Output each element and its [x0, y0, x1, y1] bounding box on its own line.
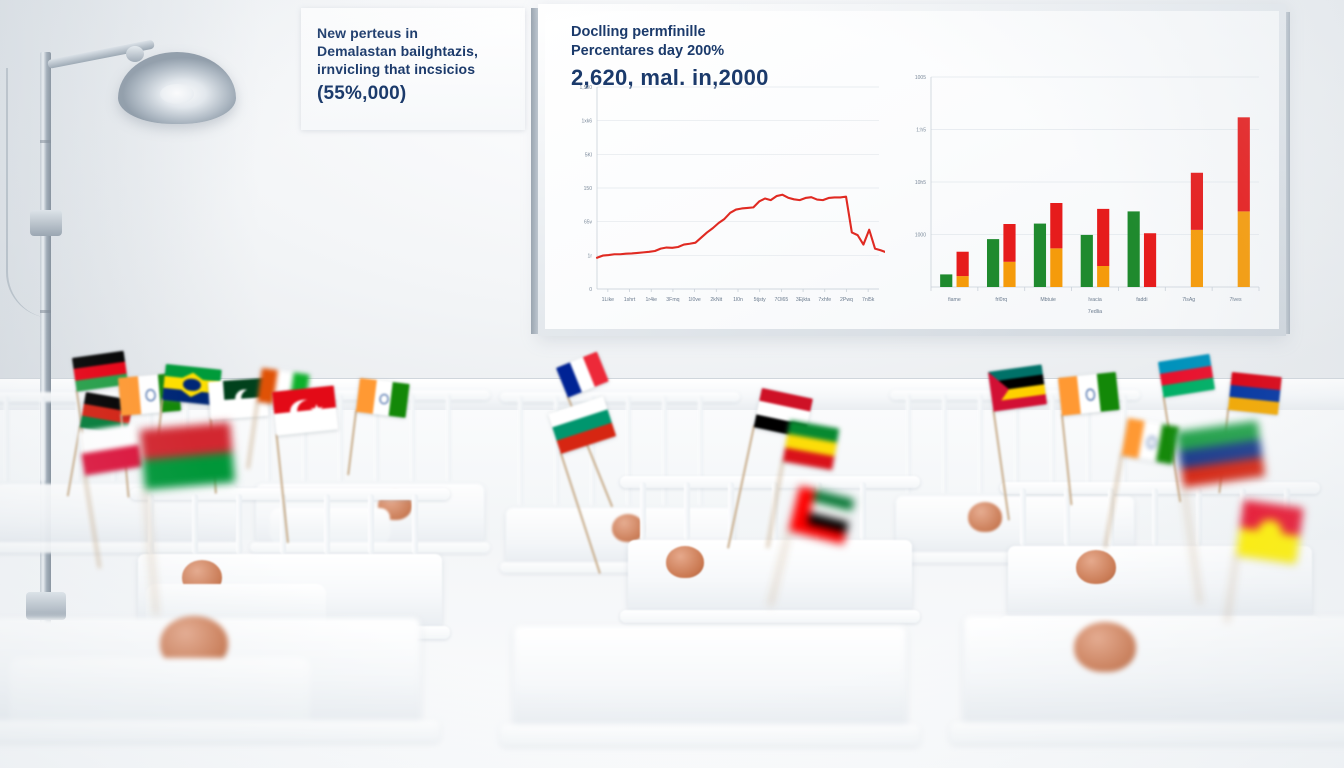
bar-segment-orange: [1191, 230, 1203, 287]
line-chart-xtick: 5tjsty: [754, 297, 767, 303]
crib-near-center: [500, 612, 920, 768]
left-info-panel: New perteus in Demalastan bailghtazis, i…: [301, 8, 525, 130]
lamp-bulb: [160, 84, 194, 104]
bar-segment-red: [1238, 117, 1250, 211]
bar-segment-green: [940, 274, 952, 287]
bar-chart-xtick: Mbtuie: [1040, 297, 1056, 303]
bar-segment-green: [1034, 224, 1046, 287]
bar-segment-green: [1081, 235, 1093, 287]
flag-cloth: [783, 420, 840, 470]
bar-chart-canvas: 100010h51:h51005fiamefrl0rqMbtuieIvaciaf…: [893, 69, 1265, 331]
flag-cloth: [78, 423, 142, 476]
flag-cloth: [1058, 372, 1120, 416]
bar-segment-green: [1128, 211, 1140, 287]
board-title-line-2: Percentares day 200%: [571, 42, 769, 61]
left-panel-text: New perteus in Demalastan bailghtazis, i…: [317, 24, 513, 106]
bar-segment-red: [1003, 224, 1015, 262]
line-chart-xtick: 7nl5k: [862, 297, 875, 303]
line-chart-xtick: 3Ejkta: [796, 297, 811, 303]
line-chart-ytick: 1r: [588, 253, 593, 259]
line-chart-xtick: 1Like: [602, 297, 615, 303]
bar-chart-ytick: 1005: [915, 75, 926, 81]
line-chart-ytick: 150: [584, 186, 593, 192]
line-chart-xtick: 2Pwq: [840, 297, 853, 303]
line-chart: 01r65v1505Kl1xk61,5001Like1shrt1r4ie3Fmq…: [563, 77, 885, 329]
bar-chart-axis-title: 7edlia: [1088, 309, 1102, 315]
lamp-clamp: [30, 210, 62, 236]
bar-segment-orange: [957, 276, 969, 287]
line-chart-xtick: 2kNit: [710, 297, 722, 303]
bar-chart-xtick: 7lves: [1230, 297, 1243, 303]
left-panel-highlight: (55%,000): [317, 82, 513, 107]
baby-head: [968, 502, 1002, 532]
flag-cloth: [356, 378, 410, 418]
line-chart-xtick: 7Ol65: [774, 297, 788, 303]
line-chart-xtick: 3Fmq: [666, 297, 679, 303]
bar-chart-xtick: fiame: [948, 297, 961, 303]
line-chart-xtick: 1l0ve: [688, 297, 701, 303]
nursery-scene: New perteus in Demalastan bailghtazis, i…: [0, 0, 1344, 768]
flag-cloth: [988, 364, 1047, 411]
line-chart-xtick: 1r4ie: [645, 297, 657, 303]
bar-chart-xtick: faddi: [1136, 297, 1147, 303]
line-chart-ytick: 0: [589, 287, 592, 293]
line-chart-ytick: 65v: [584, 220, 593, 226]
flag-cloth: [1176, 421, 1265, 488]
bar-segment-orange: [1050, 248, 1062, 287]
crib-near-left: [0, 600, 440, 768]
whiteboard: Doclling permfinille Percentares day 200…: [538, 4, 1286, 336]
bar-segment-red: [957, 252, 969, 276]
left-panel-line-3: irnvicling that incsicios: [317, 60, 513, 78]
flag-cloth: [272, 386, 338, 436]
bar-segment-red: [1144, 233, 1156, 287]
bar-chart-xtick: 7lsAg: [1182, 297, 1195, 303]
line-chart-ytick: 5Kl: [585, 152, 592, 158]
board-title-line-1: Doclling permfinille: [571, 23, 769, 42]
bar-chart-ytick: 1:h5: [916, 128, 926, 134]
left-panel-line-1: New perteus in: [317, 24, 513, 42]
bar-chart-ytick: 1000: [915, 233, 926, 239]
lamp-pole-joint: [40, 310, 51, 313]
line-chart-ytick: 1xk6: [581, 119, 592, 125]
line-chart-series: [597, 195, 885, 258]
flag-cloth: [1228, 372, 1282, 415]
line-chart-ytick: 1,500: [579, 85, 592, 91]
lamp-pivot-knob: [126, 46, 144, 62]
line-chart-xtick: 7xhfe: [818, 297, 831, 303]
lamp-pole-joint: [40, 140, 51, 143]
bar-segment-orange: [1003, 262, 1015, 287]
baby-head: [1074, 622, 1136, 672]
bar-segment-red: [1097, 209, 1109, 266]
line-chart-canvas: 01r65v1505Kl1xk61,5001Like1shrt1r4ie3Fmq…: [563, 77, 885, 329]
baby-head: [1076, 550, 1116, 584]
bar-chart-xtick: frl0rq: [995, 297, 1007, 303]
crib-near-right: [950, 600, 1344, 768]
bar-chart-xtick: Ivacia: [1088, 297, 1102, 303]
line-chart-xtick: 1l0n: [733, 297, 743, 303]
left-panel-line-2: Demalastan bailghtazis,: [317, 42, 513, 60]
bar-segment-red: [1050, 203, 1062, 248]
bar-segment-red: [1191, 173, 1203, 230]
baby-head: [666, 546, 704, 578]
flag-cloth: [140, 422, 235, 490]
line-chart-xtick: 1shrt: [624, 297, 636, 303]
bar-segment-green: [987, 239, 999, 287]
bar-segment-orange: [1238, 211, 1250, 287]
bar-segment-orange: [1097, 266, 1109, 287]
flag-cloth: [1236, 500, 1303, 564]
bar-chart: 100010h51:h51005fiamefrl0rqMbtuieIvaciaf…: [893, 69, 1265, 331]
bar-chart-ytick: 10h5: [915, 180, 926, 186]
